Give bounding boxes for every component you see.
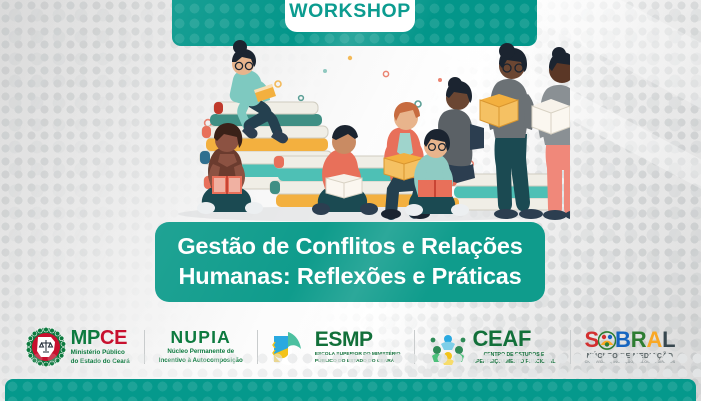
bottom-bar-dot-texture: [5, 379, 696, 401]
nupia-acronym: NUPIA: [171, 329, 231, 347]
event-poster: WORKSHOP: [0, 0, 701, 401]
workshop-chip: WORKSHOP: [285, 0, 415, 32]
esmp-acronym: ESMP: [315, 329, 401, 350]
bottom-halftone: [0, 351, 701, 377]
bottom-bar: [5, 379, 696, 401]
sobral-people-o-icon: [598, 330, 616, 351]
sobral-acronym: S B R A L: [585, 329, 676, 351]
people-reading-books-illustration: [150, 38, 570, 223]
workshop-label: WORKSHOP: [289, 2, 411, 33]
event-title-line-1: Gestão de Conflitos e Relações: [177, 232, 522, 262]
event-title-line-2: Humanas: Reflexões e Práticas: [179, 262, 522, 292]
mpce-acronym: MPCE: [71, 328, 130, 348]
event-title-plate: Gestão de Conflitos e Relações Humanas: …: [155, 222, 545, 302]
ceaf-acronym: CEAF: [472, 328, 555, 350]
